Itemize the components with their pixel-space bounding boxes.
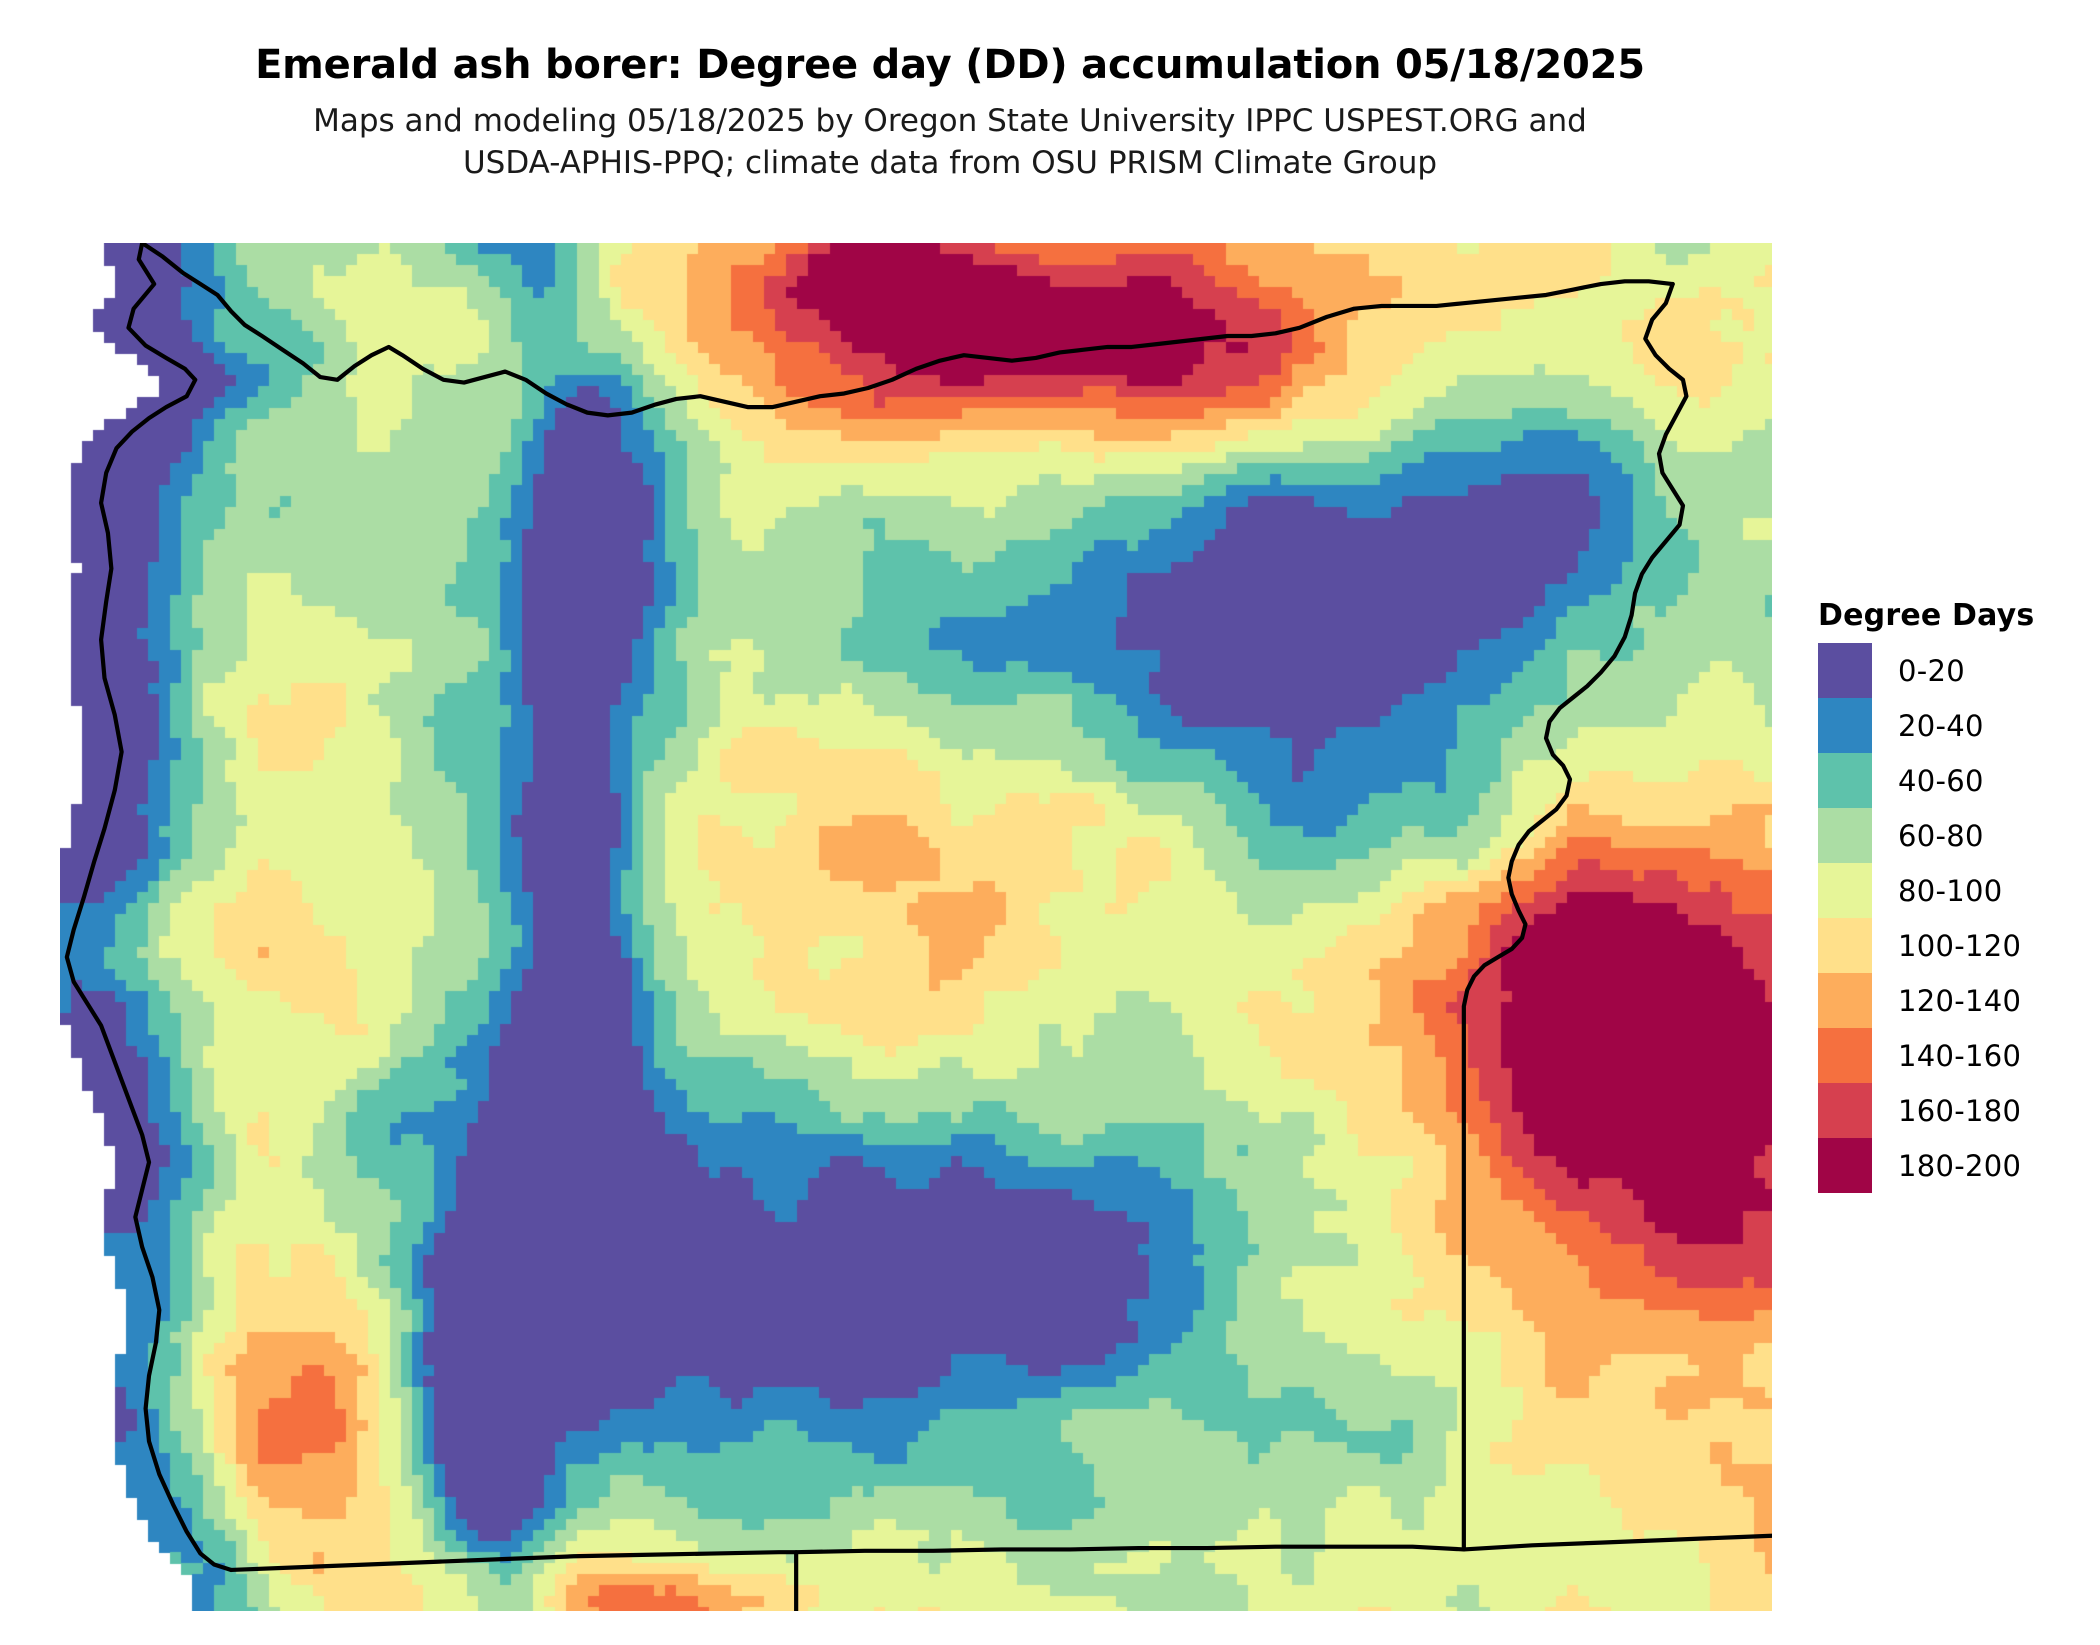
legend-label: 0-20 [1898, 654, 1965, 688]
subtitle-line-1: Maps and modeling 05/18/2025 by Oregon S… [0, 100, 1900, 142]
map-figure: Emerald ash borer: Degree day (DD) accum… [0, 0, 2100, 1645]
legend-row: 20-40 [1818, 698, 2035, 753]
legend-row: 160-180 [1818, 1083, 2035, 1138]
legend-row: 80-100 [1818, 863, 2035, 918]
legend-row: 140-160 [1818, 1028, 2035, 1083]
subtitle-line-2: USDA-APHIS-PPQ; climate data from OSU PR… [0, 142, 1900, 184]
legend-color-swatch [1818, 1028, 1872, 1083]
legend-row: 40-60 [1818, 753, 2035, 808]
legend-color-swatch [1818, 643, 1872, 698]
legend-row: 180-200 [1818, 1138, 2035, 1193]
degree-day-map [60, 243, 1772, 1611]
legend-color-swatch [1818, 753, 1872, 808]
page-title: Emerald ash borer: Degree day (DD) accum… [0, 0, 1900, 88]
legend-label: 60-80 [1898, 819, 1984, 853]
legend: Degree Days 0-2020-4040-6060-8080-100100… [1818, 598, 2035, 1193]
legend-label: 80-100 [1898, 874, 2003, 908]
legend-title: Degree Days [1818, 598, 2035, 633]
legend-row: 0-20 [1818, 643, 2035, 698]
figure-subtitle: Maps and modeling 05/18/2025 by Oregon S… [0, 88, 1900, 184]
legend-color-swatch [1818, 1083, 1872, 1138]
degree-day-raster [60, 243, 1772, 1611]
legend-row: 60-80 [1818, 808, 2035, 863]
legend-color-swatch [1818, 1138, 1872, 1193]
legend-label: 120-140 [1898, 984, 2021, 1018]
legend-color-swatch [1818, 863, 1872, 918]
figure-header: Emerald ash borer: Degree day (DD) accum… [0, 0, 1900, 184]
legend-label: 100-120 [1898, 929, 2021, 963]
legend-row: 120-140 [1818, 973, 2035, 1028]
legend-color-swatch [1818, 918, 1872, 973]
legend-row: 100-120 [1818, 918, 2035, 973]
legend-color-swatch [1818, 698, 1872, 753]
legend-color-swatch [1818, 973, 1872, 1028]
legend-label: 180-200 [1898, 1149, 2021, 1183]
legend-label: 160-180 [1898, 1094, 2021, 1128]
legend-entries: 0-2020-4040-6060-8080-100100-120120-1401… [1818, 643, 2035, 1193]
legend-label: 140-160 [1898, 1039, 2021, 1073]
legend-label: 20-40 [1898, 709, 1984, 743]
legend-color-swatch [1818, 808, 1872, 863]
legend-label: 40-60 [1898, 764, 1984, 798]
